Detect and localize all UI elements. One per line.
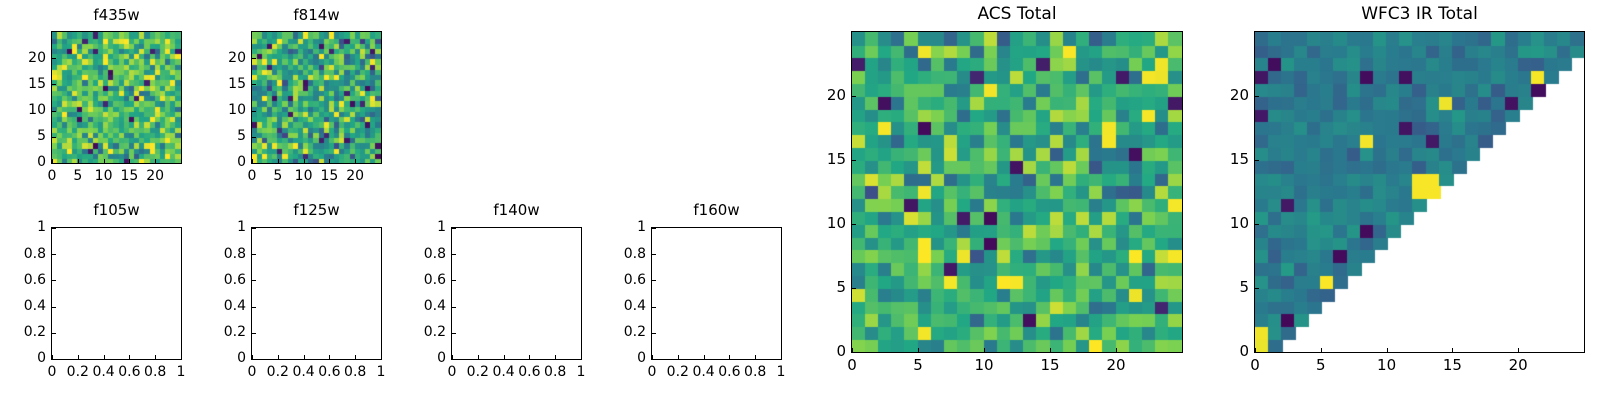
ytick-mark-acs-total-2 — [852, 224, 856, 225]
ytick-label-f435w-3: 15 — [0, 77, 46, 91]
axes-acs-total — [851, 31, 1183, 353]
ytick-mark-f125w-4 — [252, 254, 256, 255]
panel-wfc3-ir-total: WFC3 IR Total0510152005101520 — [0, 0, 1600, 400]
xtick-mark-f105w-5 — [181, 355, 182, 359]
xtick-label-f814w-0: 0 — [222, 169, 282, 183]
ytick-mark-f160w-0 — [652, 359, 656, 360]
heatmap-image-acs-total — [852, 32, 1182, 352]
ytick-mark-f125w-5 — [252, 228, 256, 229]
ytick-label-f105w-3: 0.6 — [0, 273, 46, 287]
xtick-label-f814w-4: 20 — [325, 169, 385, 183]
xtick-label-f125w-0: 0 — [222, 365, 282, 379]
panel-title-f125w: f125w — [251, 203, 382, 218]
panel-f140w: f140w00.20.40.60.8100.20.40.60.81 — [0, 0, 1600, 400]
figure-canvas: f435w0510152005101520f814w05101520051015… — [0, 0, 1600, 400]
xtick-label-f160w-1: 0.2 — [648, 365, 708, 379]
ytick-mark-f160w-5 — [652, 228, 656, 229]
ytick-mark-wfc3-ir-total-0 — [1255, 352, 1259, 353]
xtick-label-f435w-0: 0 — [22, 169, 82, 183]
xtick-label-f140w-3: 0.6 — [499, 365, 559, 379]
xtick-label-f105w-3: 0.6 — [99, 365, 159, 379]
xtick-label-wfc3-ir-total-3: 15 — [1422, 358, 1482, 373]
xtick-mark-f140w-5 — [581, 355, 582, 359]
ytick-mark-f814w-1 — [252, 137, 256, 138]
ytick-label-f814w-1: 5 — [186, 129, 246, 143]
xtick-mark-f814w-0 — [252, 159, 253, 163]
xtick-mark-f105w-3 — [129, 355, 130, 359]
axes-f140w — [451, 227, 582, 360]
xtick-label-f435w-4: 20 — [125, 169, 185, 183]
ytick-mark-f814w-4 — [252, 58, 256, 59]
xtick-mark-f140w-2 — [504, 355, 505, 359]
xtick-mark-acs-total-2 — [984, 348, 985, 352]
xtick-label-f814w-1: 5 — [248, 169, 308, 183]
xtick-mark-f140w-3 — [529, 355, 530, 359]
xtick-mark-f125w-4 — [355, 355, 356, 359]
ytick-label-f105w-4: 0.8 — [0, 247, 46, 261]
xtick-mark-acs-total-1 — [918, 348, 919, 352]
ytick-mark-f435w-3 — [52, 84, 56, 85]
ytick-label-f140w-3: 0.6 — [386, 273, 446, 287]
xtick-mark-f160w-5 — [781, 355, 782, 359]
axes-f125w — [251, 227, 382, 360]
xtick-label-acs-total-3: 15 — [1020, 358, 1080, 373]
ytick-label-f435w-0: 0 — [0, 155, 46, 169]
ytick-label-f140w-1: 0.2 — [386, 325, 446, 339]
ytick-mark-wfc3-ir-total-4 — [1255, 96, 1259, 97]
ytick-mark-f105w-1 — [52, 333, 56, 334]
xtick-mark-f125w-5 — [381, 355, 382, 359]
panel-title-f160w: f160w — [651, 203, 782, 218]
xtick-label-f125w-4: 0.8 — [325, 365, 385, 379]
ytick-mark-f814w-3 — [252, 84, 256, 85]
ytick-label-acs-total-2: 10 — [786, 216, 846, 231]
panel-title-f814w: f814w — [251, 8, 382, 23]
ytick-mark-wfc3-ir-total-1 — [1255, 288, 1259, 289]
xtick-mark-f435w-3 — [129, 159, 130, 163]
xtick-mark-wfc3-ir-total-1 — [1321, 348, 1322, 352]
ytick-label-f435w-1: 5 — [0, 129, 46, 143]
ytick-mark-f105w-3 — [52, 280, 56, 281]
ytick-mark-f140w-1 — [452, 333, 456, 334]
ytick-mark-f814w-2 — [252, 111, 256, 112]
ytick-label-wfc3-ir-total-1: 5 — [1189, 280, 1249, 295]
heatmap-image-wfc3-ir-total — [1255, 32, 1584, 352]
ytick-label-f105w-0: 0 — [0, 351, 46, 365]
xtick-label-f814w-3: 15 — [299, 169, 359, 183]
ytick-label-acs-total-0: 0 — [786, 344, 846, 359]
ytick-label-f814w-2: 10 — [186, 103, 246, 117]
ytick-mark-f435w-4 — [52, 58, 56, 59]
heatmap-image-f435w — [52, 32, 181, 163]
ytick-label-f160w-5: 1 — [586, 220, 646, 234]
ytick-label-f105w-5: 1 — [0, 220, 46, 234]
xtick-label-f435w-1: 5 — [48, 169, 108, 183]
panel-f105w: f105w00.20.40.60.8100.20.40.60.81 — [0, 0, 1600, 400]
xtick-label-f160w-4: 0.8 — [725, 365, 785, 379]
xtick-mark-f814w-3 — [329, 159, 330, 163]
ytick-label-f125w-2: 0.4 — [186, 299, 246, 313]
ytick-mark-acs-total-0 — [852, 352, 856, 353]
xtick-label-f105w-5: 1 — [151, 365, 211, 379]
ytick-mark-acs-total-1 — [852, 288, 856, 289]
xtick-label-f125w-5: 1 — [351, 365, 411, 379]
xtick-mark-f125w-0 — [252, 355, 253, 359]
ytick-label-f435w-4: 20 — [0, 51, 46, 65]
ytick-label-f140w-0: 0 — [386, 351, 446, 365]
xtick-label-acs-total-2: 10 — [954, 358, 1014, 373]
ytick-mark-f160w-1 — [652, 333, 656, 334]
xtick-label-f160w-0: 0 — [622, 365, 682, 379]
ytick-label-f814w-4: 20 — [186, 51, 246, 65]
xtick-mark-f814w-1 — [278, 159, 279, 163]
ytick-mark-acs-total-4 — [852, 96, 856, 97]
xtick-mark-acs-total-3 — [1050, 348, 1051, 352]
xtick-mark-f140w-1 — [478, 355, 479, 359]
xtick-label-acs-total-0: 0 — [822, 358, 882, 373]
xtick-mark-f435w-1 — [78, 159, 79, 163]
xtick-mark-f814w-2 — [304, 159, 305, 163]
xtick-label-f105w-4: 0.8 — [125, 365, 185, 379]
xtick-label-f140w-0: 0 — [422, 365, 482, 379]
ytick-label-acs-total-1: 5 — [786, 280, 846, 295]
xtick-mark-wfc3-ir-total-0 — [1255, 348, 1256, 352]
xtick-label-f814w-2: 10 — [274, 169, 334, 183]
ytick-mark-f105w-2 — [52, 307, 56, 308]
xtick-label-f125w-2: 0.4 — [274, 365, 334, 379]
axes-f160w — [651, 227, 782, 360]
panel-title-acs-total: ACS Total — [851, 6, 1183, 23]
xtick-mark-f435w-2 — [104, 159, 105, 163]
xtick-mark-f160w-4 — [755, 355, 756, 359]
ytick-mark-wfc3-ir-total-3 — [1255, 160, 1259, 161]
xtick-label-f160w-2: 0.4 — [674, 365, 734, 379]
xtick-mark-wfc3-ir-total-3 — [1452, 348, 1453, 352]
ytick-mark-f140w-0 — [452, 359, 456, 360]
panel-f125w: f125w00.20.40.60.8100.20.40.60.81 — [0, 0, 1600, 400]
panel-title-wfc3-ir-total: WFC3 IR Total — [1254, 6, 1585, 23]
ytick-mark-f160w-3 — [652, 280, 656, 281]
xtick-mark-f105w-1 — [78, 355, 79, 359]
xtick-label-wfc3-ir-total-0: 0 — [1225, 358, 1285, 373]
heatmap-image-f814w — [252, 32, 381, 163]
ytick-mark-f140w-2 — [452, 307, 456, 308]
xtick-mark-f814w-4 — [355, 159, 356, 163]
xtick-mark-f435w-4 — [155, 159, 156, 163]
ytick-label-f160w-0: 0 — [586, 351, 646, 365]
xtick-mark-f435w-0 — [52, 159, 53, 163]
xtick-mark-f160w-3 — [729, 355, 730, 359]
xtick-mark-f140w-4 — [555, 355, 556, 359]
ytick-label-f125w-3: 0.6 — [186, 273, 246, 287]
ytick-mark-f125w-0 — [252, 359, 256, 360]
ytick-label-f814w-0: 0 — [186, 155, 246, 169]
xtick-mark-f125w-1 — [278, 355, 279, 359]
xtick-label-f105w-0: 0 — [22, 365, 82, 379]
ytick-label-f105w-1: 0.2 — [0, 325, 46, 339]
ytick-label-f160w-3: 0.6 — [586, 273, 646, 287]
ytick-mark-f140w-3 — [452, 280, 456, 281]
xtick-mark-f140w-0 — [452, 355, 453, 359]
ytick-label-f140w-5: 1 — [386, 220, 446, 234]
xtick-mark-acs-total-4 — [1116, 348, 1117, 352]
axes-f814w — [251, 31, 382, 164]
panel-title-f105w: f105w — [51, 203, 182, 218]
ytick-mark-f160w-4 — [652, 254, 656, 255]
panel-f160w: f160w00.20.40.60.8100.20.40.60.81 — [0, 0, 1600, 400]
ytick-label-f160w-1: 0.2 — [586, 325, 646, 339]
xtick-mark-f160w-2 — [704, 355, 705, 359]
ytick-mark-f105w-0 — [52, 359, 56, 360]
ytick-label-f160w-4: 0.8 — [586, 247, 646, 261]
ytick-label-f160w-2: 0.4 — [586, 299, 646, 313]
xtick-label-f140w-4: 0.8 — [525, 365, 585, 379]
axes-f105w — [51, 227, 182, 360]
ytick-label-wfc3-ir-total-0: 0 — [1189, 344, 1249, 359]
ytick-mark-f435w-0 — [52, 163, 56, 164]
xtick-mark-f125w-2 — [304, 355, 305, 359]
ytick-mark-f160w-2 — [652, 307, 656, 308]
ytick-label-f140w-2: 0.4 — [386, 299, 446, 313]
ytick-mark-wfc3-ir-total-2 — [1255, 224, 1259, 225]
ytick-mark-f140w-4 — [452, 254, 456, 255]
ytick-mark-f105w-5 — [52, 228, 56, 229]
xtick-label-f435w-3: 15 — [99, 169, 159, 183]
xtick-label-f160w-5: 1 — [751, 365, 811, 379]
xtick-label-f140w-2: 0.4 — [474, 365, 534, 379]
ytick-label-f140w-4: 0.8 — [386, 247, 446, 261]
ytick-label-f125w-0: 0 — [186, 351, 246, 365]
ytick-label-wfc3-ir-total-4: 20 — [1189, 88, 1249, 103]
ytick-mark-f125w-3 — [252, 280, 256, 281]
ytick-label-f435w-2: 10 — [0, 103, 46, 117]
xtick-mark-wfc3-ir-total-4 — [1518, 348, 1519, 352]
xtick-label-f160w-3: 0.6 — [699, 365, 759, 379]
ytick-mark-f140w-5 — [452, 228, 456, 229]
xtick-mark-acs-total-0 — [852, 348, 853, 352]
axes-f435w — [51, 31, 182, 164]
ytick-mark-f105w-4 — [52, 254, 56, 255]
ytick-label-f105w-2: 0.4 — [0, 299, 46, 313]
ytick-label-f125w-5: 1 — [186, 220, 246, 234]
xtick-label-acs-total-1: 5 — [888, 358, 948, 373]
ytick-mark-f435w-1 — [52, 137, 56, 138]
xtick-label-acs-total-4: 20 — [1086, 358, 1146, 373]
xtick-mark-f105w-0 — [52, 355, 53, 359]
ytick-label-f125w-4: 0.8 — [186, 247, 246, 261]
xtick-label-f140w-5: 1 — [551, 365, 611, 379]
xtick-mark-wfc3-ir-total-2 — [1387, 348, 1388, 352]
ytick-label-wfc3-ir-total-3: 15 — [1189, 152, 1249, 167]
ytick-mark-f125w-1 — [252, 333, 256, 334]
xtick-label-f105w-2: 0.4 — [74, 365, 134, 379]
panel-f435w: f435w0510152005101520 — [0, 0, 1600, 400]
panel-acs-total: ACS Total0510152005101520 — [0, 0, 1600, 400]
ytick-label-f814w-3: 15 — [186, 77, 246, 91]
ytick-label-wfc3-ir-total-2: 10 — [1189, 216, 1249, 231]
ytick-mark-acs-total-3 — [852, 160, 856, 161]
xtick-label-f435w-2: 10 — [74, 169, 134, 183]
xtick-label-f140w-1: 0.2 — [448, 365, 508, 379]
xtick-mark-f160w-0 — [652, 355, 653, 359]
xtick-label-f125w-3: 0.6 — [299, 365, 359, 379]
xtick-mark-f125w-3 — [329, 355, 330, 359]
xtick-label-f125w-1: 0.2 — [248, 365, 308, 379]
ytick-mark-f814w-0 — [252, 163, 256, 164]
xtick-label-wfc3-ir-total-4: 20 — [1488, 358, 1548, 373]
ytick-mark-f125w-2 — [252, 307, 256, 308]
xtick-label-f105w-1: 0.2 — [48, 365, 108, 379]
ytick-label-acs-total-4: 20 — [786, 88, 846, 103]
xtick-mark-f105w-2 — [104, 355, 105, 359]
xtick-label-wfc3-ir-total-1: 5 — [1291, 358, 1351, 373]
panel-f814w: f814w0510152005101520 — [0, 0, 1600, 400]
axes-wfc3-ir-total — [1254, 31, 1585, 353]
xtick-mark-f105w-4 — [155, 355, 156, 359]
ytick-label-acs-total-3: 15 — [786, 152, 846, 167]
xtick-label-wfc3-ir-total-2: 10 — [1357, 358, 1417, 373]
ytick-mark-f435w-2 — [52, 111, 56, 112]
panel-title-f140w: f140w — [451, 203, 582, 218]
xtick-mark-f160w-1 — [678, 355, 679, 359]
panel-title-f435w: f435w — [51, 8, 182, 23]
ytick-label-f125w-1: 0.2 — [186, 325, 246, 339]
